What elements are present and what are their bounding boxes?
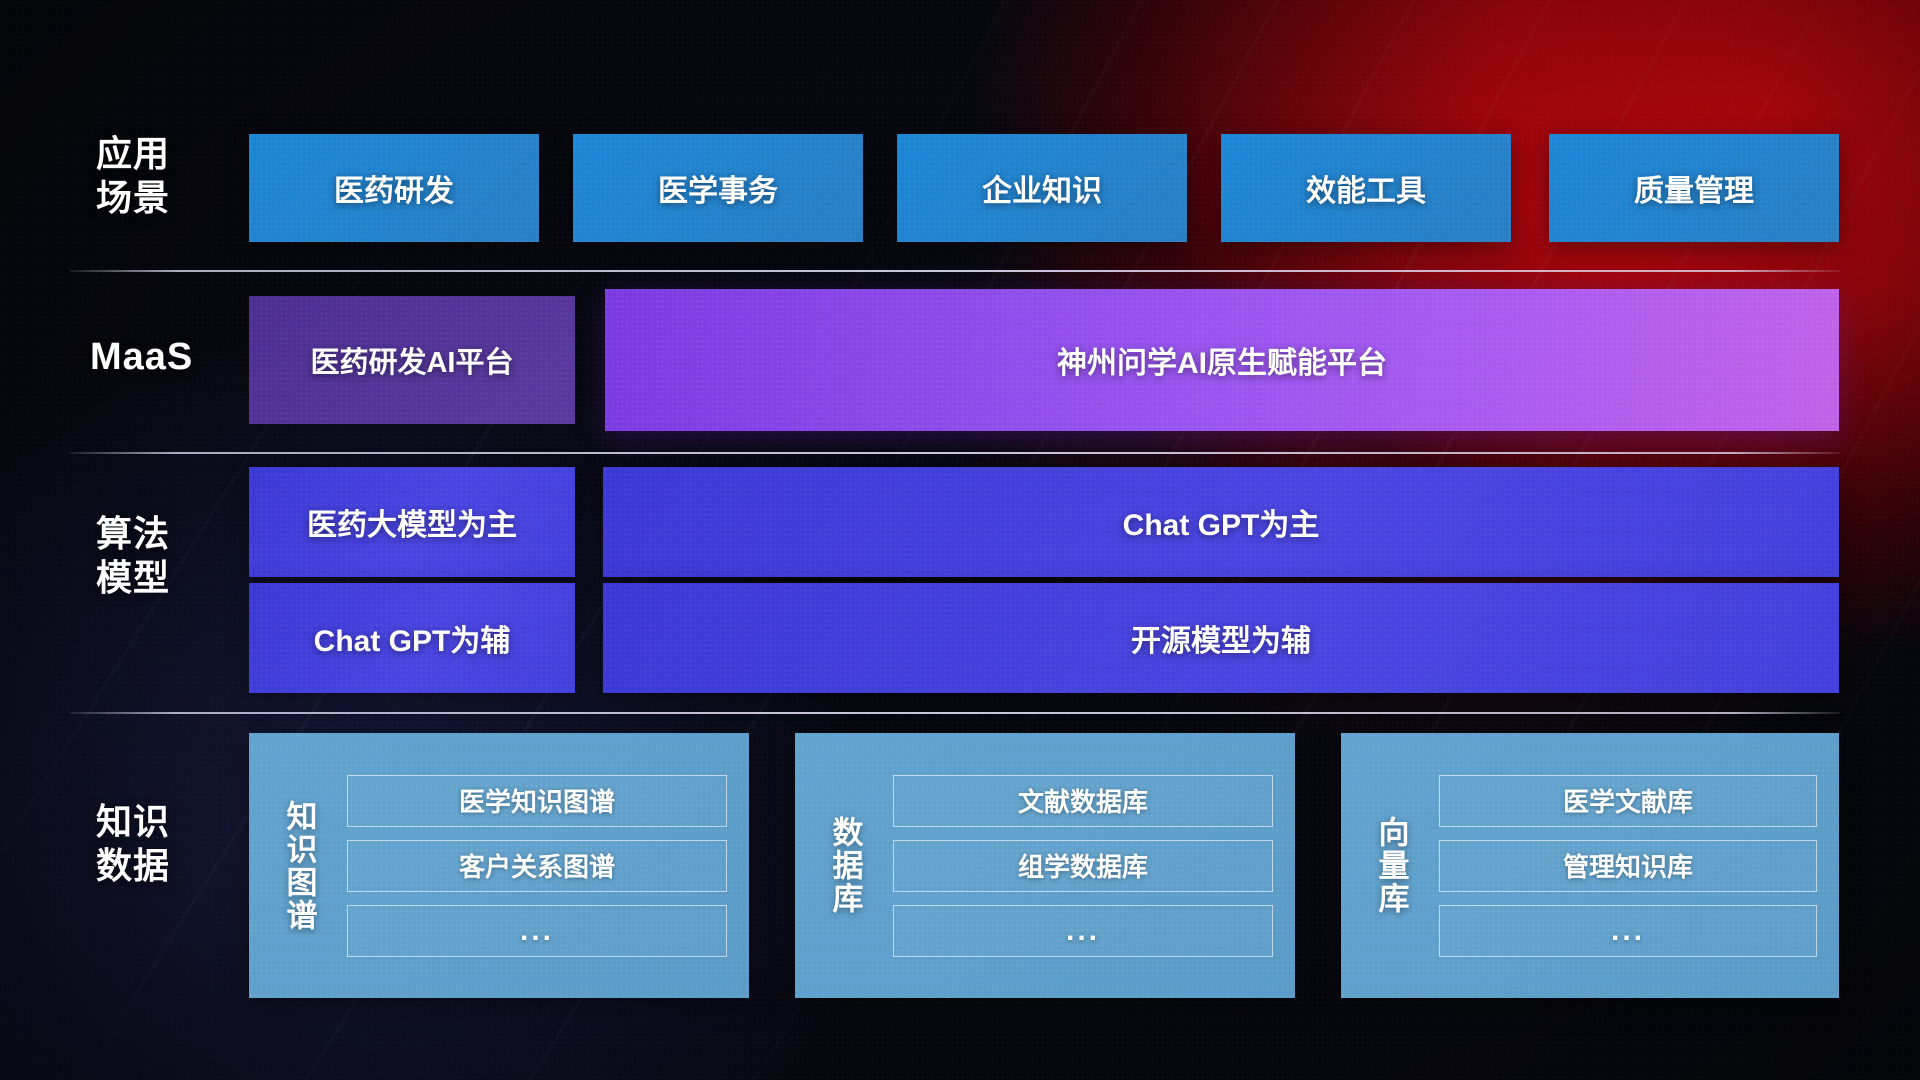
knowledge-item-more-vector[interactable]: ...: [1439, 905, 1817, 957]
knowledge-item-medical-literature-store[interactable]: 医学文献库: [1439, 775, 1817, 827]
app-card-drug-rd-label: 医药研发: [334, 166, 454, 210]
algo-card-chatgpt-secondary-label: Chat GPT为辅: [314, 616, 511, 660]
knowledge-group-database-title: 数据库: [813, 816, 877, 915]
maas-card-shenzhou-wenxue-platform-label: 神州问学AI原生赋能平台: [1057, 338, 1387, 382]
row-label-knowledge: 知识 数据: [96, 800, 266, 888]
knowledge-item-more-graph[interactable]: ...: [347, 905, 727, 957]
row-label-algorithm: 算法 模型: [96, 512, 256, 600]
knowledge-group-vector-store-items: 医学文献库 管理知识库 ...: [1439, 775, 1817, 957]
row-label-maas-text: MaaS: [90, 336, 193, 378]
row-label-knowledge-line2: 数据: [96, 844, 266, 888]
knowledge-group-vector-store-title: 向量库: [1359, 816, 1423, 915]
maas-card-shenzhou-wenxue-platform[interactable]: 神州问学AI原生赋能平台: [605, 289, 1839, 431]
knowledge-group-vector-store[interactable]: 向量库 医学文献库 管理知识库 ...: [1341, 733, 1839, 998]
app-card-quality-management-label: 质量管理: [1634, 166, 1754, 210]
algo-card-opensource-secondary[interactable]: 开源模型为辅: [603, 583, 1839, 693]
app-card-medical-affairs[interactable]: 医学事务: [573, 134, 863, 242]
knowledge-item-omics-database[interactable]: 组学数据库: [893, 840, 1273, 892]
knowledge-item-management-knowledge-store[interactable]: 管理知识库: [1439, 840, 1817, 892]
knowledge-group-database[interactable]: 数据库 文献数据库 组学数据库 ...: [795, 733, 1295, 998]
app-card-enterprise-knowledge-label: 企业知识: [982, 166, 1102, 210]
app-card-drug-rd[interactable]: 医药研发: [249, 134, 539, 242]
maas-card-drug-rd-ai-platform-label: 医药研发AI平台: [310, 339, 513, 381]
row-label-application: 应用 场景: [96, 132, 246, 220]
algo-card-chatgpt-secondary[interactable]: Chat GPT为辅: [249, 583, 575, 693]
knowledge-group-knowledge-graph[interactable]: 知识图谱 医学知识图谱 客户关系图谱 ...: [249, 733, 749, 998]
knowledge-group-database-items: 文献数据库 组学数据库 ...: [893, 775, 1273, 957]
divider-algorithm-knowledge: [70, 712, 1840, 714]
knowledge-group-knowledge-graph-title: 知识图谱: [267, 800, 331, 932]
app-card-efficiency-tools[interactable]: 效能工具: [1221, 134, 1511, 242]
algo-card-chatgpt-primary-label: Chat GPT为主: [1123, 500, 1320, 544]
app-card-quality-management[interactable]: 质量管理: [1549, 134, 1839, 242]
app-card-efficiency-tools-label: 效能工具: [1306, 166, 1426, 210]
knowledge-item-medical-knowledge-graph[interactable]: 医学知识图谱: [347, 775, 727, 827]
row-label-maas: MaaS: [90, 334, 270, 380]
algo-card-pharma-llm-primary[interactable]: 医药大模型为主: [249, 467, 575, 577]
row-label-knowledge-line1: 知识: [96, 800, 266, 844]
row-label-algorithm-line2: 模型: [96, 556, 256, 600]
knowledge-item-literature-database[interactable]: 文献数据库: [893, 775, 1273, 827]
app-card-medical-affairs-label: 医学事务: [658, 166, 778, 210]
knowledge-item-more-database[interactable]: ...: [893, 905, 1273, 957]
architecture-diagram: 应用 场景 医药研发 医学事务 企业知识 效能工具 质量管理 MaaS 医药研发…: [0, 0, 1920, 1080]
divider-application-maas: [70, 270, 1840, 272]
algo-card-pharma-llm-primary-label: 医药大模型为主: [307, 500, 517, 544]
maas-card-drug-rd-ai-platform[interactable]: 医药研发AI平台: [249, 296, 575, 424]
algo-card-chatgpt-primary[interactable]: Chat GPT为主: [603, 467, 1839, 577]
row-label-application-line2: 场景: [96, 176, 246, 220]
knowledge-group-knowledge-graph-items: 医学知识图谱 客户关系图谱 ...: [347, 775, 727, 957]
divider-maas-algorithm: [70, 452, 1840, 454]
knowledge-item-customer-relation-graph[interactable]: 客户关系图谱: [347, 840, 727, 892]
algo-card-opensource-secondary-label: 开源模型为辅: [1131, 616, 1311, 660]
row-label-application-line1: 应用: [96, 132, 246, 176]
row-label-algorithm-line1: 算法: [96, 512, 256, 556]
app-card-enterprise-knowledge[interactable]: 企业知识: [897, 134, 1187, 242]
